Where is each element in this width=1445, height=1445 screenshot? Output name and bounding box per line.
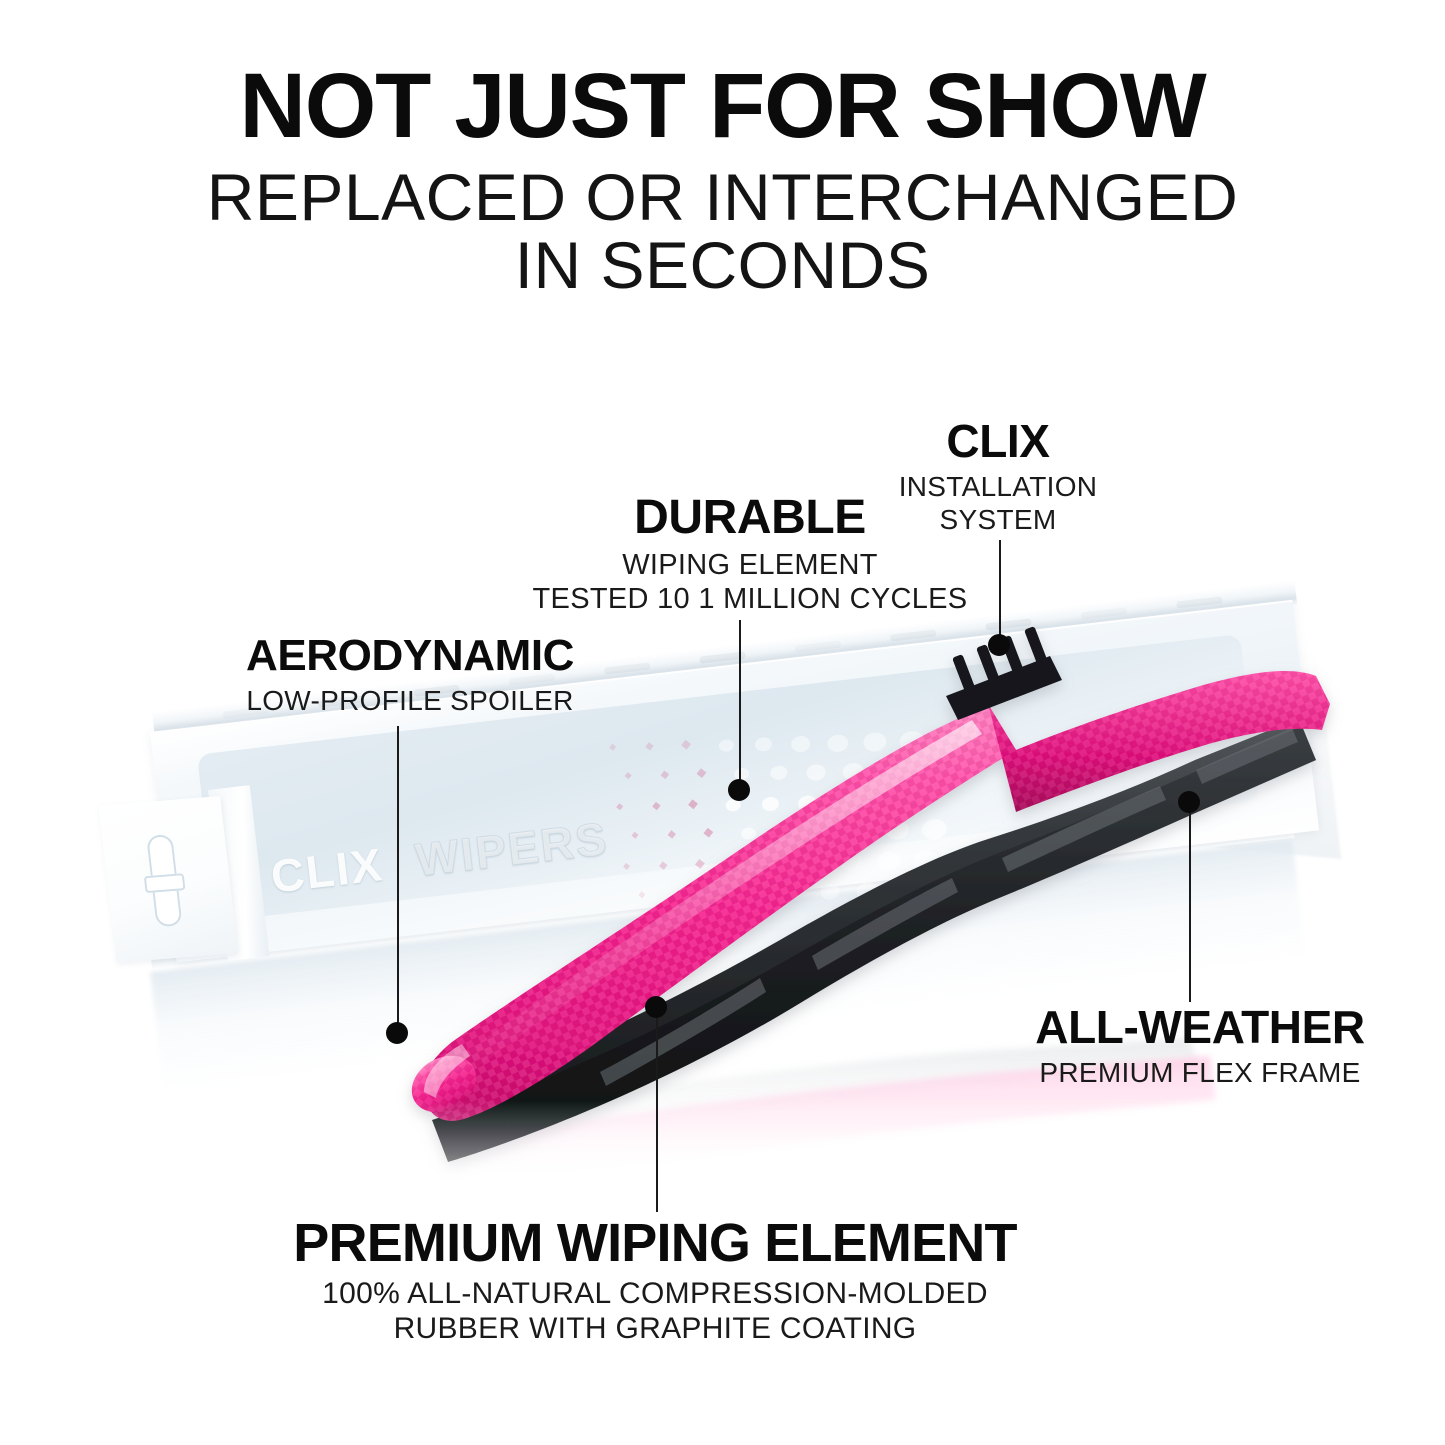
- leader-line-premium-wiping-element: [656, 1014, 658, 1212]
- callout-premium-subtitle-line-1: 100% ALL-NATURAL COMPRESSION-MOLDED: [190, 1276, 1120, 1311]
- headline-title: NOT JUST FOR SHOW: [0, 62, 1445, 150]
- headline-block: NOT JUST FOR SHOW REPLACED OR INTERCHANG…: [0, 62, 1445, 299]
- leader-dot-all-weather: [1178, 791, 1200, 813]
- callout-durable: DURABLE WIPING ELEMENT TESTED 10 1 MILLI…: [480, 494, 1020, 616]
- headline-subtitle-line-2: IN SECONDS: [0, 232, 1445, 299]
- callout-durable-subtitle-line-1: WIPING ELEMENT: [480, 548, 1020, 582]
- callout-clix-title: CLIX: [793, 418, 1203, 464]
- callout-durable-title: DURABLE: [480, 494, 1020, 542]
- leader-line-aerodynamic: [397, 726, 399, 1031]
- callout-premium-wiping-element: PREMIUM WIPING ELEMENT 100% ALL-NATURAL …: [190, 1216, 1120, 1347]
- callout-aerodynamic-subtitle: LOW-PROFILE SPOILER: [150, 684, 670, 717]
- callout-all-weather-subtitle-line-1: PREMIUM FLEX FRAME: [940, 1056, 1445, 1089]
- leader-line-durable: [739, 620, 741, 788]
- callout-aerodynamic: AERODYNAMIC LOW-PROFILE SPOILER: [150, 634, 670, 717]
- leader-line-all-weather: [1189, 810, 1191, 1002]
- leader-dot-clix: [988, 634, 1010, 656]
- callout-premium-wiping-element-subtitle: 100% ALL-NATURAL COMPRESSION-MOLDED RUBB…: [190, 1276, 1120, 1347]
- leader-dot-aerodynamic: [386, 1022, 408, 1044]
- leader-dot-premium-wiping-element: [645, 996, 667, 1018]
- headline-subtitle-line-1: REPLACED OR INTERCHANGED: [0, 164, 1445, 231]
- callout-durable-subtitle-line-2: TESTED 10 1 MILLION CYCLES: [480, 582, 1020, 616]
- callout-premium-wiping-element-title: PREMIUM WIPING ELEMENT: [190, 1216, 1120, 1270]
- callout-all-weather-subtitle: PREMIUM FLEX FRAME: [940, 1056, 1445, 1089]
- headline-subtitle: REPLACED OR INTERCHANGED IN SECONDS: [0, 164, 1445, 299]
- callout-aerodynamic-subtitle-line-1: LOW-PROFILE SPOILER: [150, 684, 670, 717]
- callout-all-weather-title: ALL-WEATHER: [940, 1004, 1445, 1050]
- infographic-canvas: NOT JUST FOR SHOW REPLACED OR INTERCHANG…: [0, 0, 1445, 1445]
- callout-aerodynamic-title: AERODYNAMIC: [150, 634, 670, 678]
- leader-dot-durable: [728, 779, 750, 801]
- callout-premium-subtitle-line-2: RUBBER WITH GRAPHITE COATING: [190, 1311, 1120, 1346]
- callout-all-weather: ALL-WEATHER PREMIUM FLEX FRAME: [940, 1004, 1445, 1089]
- callout-durable-subtitle: WIPING ELEMENT TESTED 10 1 MILLION CYCLE…: [480, 548, 1020, 616]
